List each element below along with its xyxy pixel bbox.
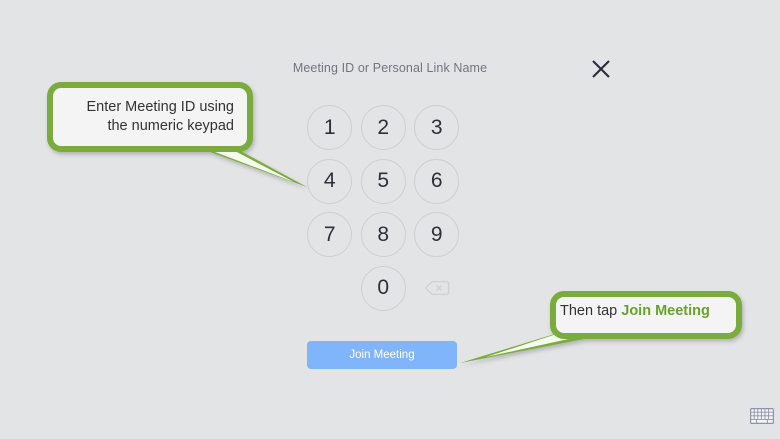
keypad-key-4[interactable]: 4 [307,159,352,204]
keypad-key-0[interactable]: 0 [361,266,406,311]
callout-enter-meeting-id-text: Enter Meeting ID using the numeric keypa… [62,98,234,136]
backspace-icon [424,280,450,296]
keypad-key-2[interactable]: 2 [361,105,406,150]
close-button[interactable] [586,54,616,84]
keyboard-icon [750,408,774,424]
keypad-blank-slot [307,266,352,311]
close-icon [586,54,616,84]
callout2-prefix: Then tap [560,303,621,319]
keypad-key-3[interactable]: 3 [414,105,459,150]
callout-then-tap-join-text: Then tap Join Meeting [560,302,710,321]
zoom-join-meeting-screen: Meeting ID or Personal Link Name 1 2 3 4… [0,0,780,439]
keypad-key-6[interactable]: 6 [414,159,459,204]
keypad-key-5[interactable]: 5 [361,159,406,204]
callout1-line1: Enter Meeting ID using [62,98,234,117]
keypad-key-7[interactable]: 7 [307,212,352,257]
numeric-keypad: 1 2 3 4 5 6 7 8 9 0 [303,101,463,315]
keypad-key-9[interactable]: 9 [414,212,459,257]
callout1-line2: the numeric keypad [62,117,234,136]
callout2-emphasis: Join Meeting [621,303,710,319]
meeting-id-heading: Meeting ID or Personal Link Name [0,61,780,75]
keyboard-button[interactable] [750,408,774,424]
join-meeting-button[interactable]: Join Meeting [307,341,457,369]
keypad-key-1[interactable]: 1 [307,105,352,150]
keypad-backspace-button[interactable] [414,266,459,311]
keypad-key-8[interactable]: 8 [361,212,406,257]
